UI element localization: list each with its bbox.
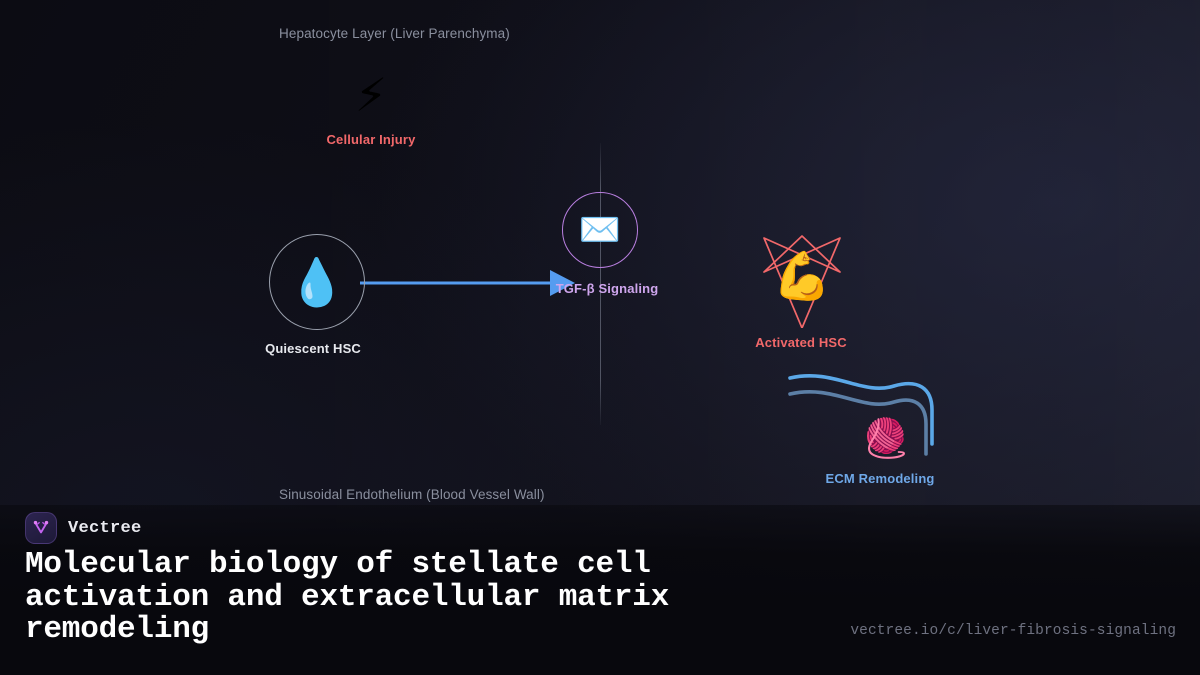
node-label-ecm-remodeling: ECM Remodeling bbox=[826, 471, 935, 486]
edge-quiescent-to-tgf bbox=[360, 262, 575, 304]
water-droplet-icon: 💧 bbox=[269, 234, 365, 330]
envelope-mail-icon: ✉️ bbox=[562, 192, 638, 268]
footer-url-label: vectree.io/c/liver-fibrosis-signaling bbox=[850, 623, 1176, 639]
diagram-canvas: Hepatocyte Layer (Liver Parenchyma) Sinu… bbox=[0, 0, 1200, 675]
brand-name-label: Vectree bbox=[68, 519, 142, 538]
vectree-v-tree-icon bbox=[25, 512, 57, 544]
lane-label-hepatocyte-layer: Hepatocyte Layer (Liver Parenchyma) bbox=[279, 26, 510, 41]
node-label-quiescent-hsc: Quiescent HSC bbox=[265, 341, 361, 356]
flexed-biceps-icon: 💪 bbox=[758, 228, 846, 324]
lane-label-sinusoidal-endothelium: Sinusoidal Endothelium (Blood Vessel Wal… bbox=[279, 487, 545, 502]
node-label-cellular-injury: Cellular Injury bbox=[327, 132, 416, 147]
node-label-activated-hsc: Activated HSC bbox=[755, 335, 847, 350]
brand-lockup[interactable]: Vectree bbox=[25, 512, 142, 544]
node-label-tgf-beta-signaling: TGF-β Signaling bbox=[556, 281, 659, 296]
high-voltage-lightning-icon: ⚡ bbox=[340, 64, 402, 126]
page-title: Molecular biology of stellate cell activ… bbox=[25, 549, 815, 647]
yarn-ball-icon: 🧶 bbox=[862, 414, 910, 462]
